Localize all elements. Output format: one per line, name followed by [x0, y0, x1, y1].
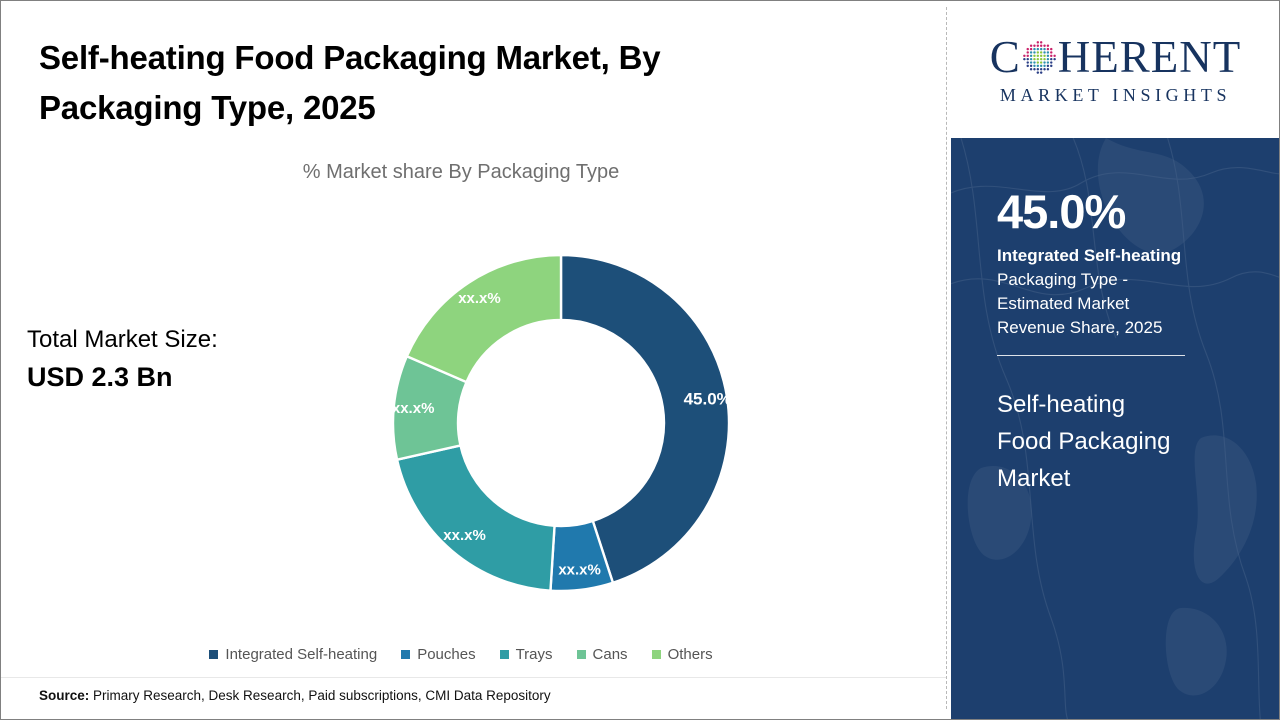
brand-wordmark: C HERENT [990, 35, 1242, 80]
panel-market-line-3: Market [997, 461, 1242, 498]
chart-legend: Integrated Self-heatingPouchesTraysCansO… [1, 646, 921, 663]
total-market-size-value: USD 2.3 Bn [27, 358, 317, 397]
brand-tagline: MARKET INSIGHTS [1000, 85, 1231, 106]
donut-chart: 45.0%xx.x%xx.x%xx.x%xx.x% [361, 223, 761, 623]
stat-sub-line-2: Estimated Market [997, 292, 1242, 316]
highlight-panel-content: 45.0% Integrated Self-heating Packaging … [997, 186, 1242, 497]
legend-item-others[interactable]: Others [652, 646, 713, 663]
infographic-root: Self-heating Food Packaging Market, By P… [0, 0, 1280, 720]
legend-item-pouches[interactable]: Pouches [401, 646, 475, 663]
donut-slice-trays[interactable] [397, 445, 554, 590]
stat-value: 45.0% [997, 186, 1242, 239]
legend-label: Trays [516, 646, 553, 663]
legend-item-cans[interactable]: Cans [577, 646, 628, 663]
panel-market-line-2: Food Packaging [997, 424, 1242, 461]
donut-slice-label-cans: xx.x% [392, 400, 435, 417]
legend-swatch-icon [209, 650, 218, 659]
donut-slice-others[interactable] [407, 255, 561, 382]
source-label: Source: [39, 688, 89, 703]
footer: Source: Primary Research, Desk Research,… [1, 677, 947, 719]
legend-swatch-icon [401, 650, 410, 659]
globe-icon [1022, 40, 1057, 75]
legend-label: Integrated Self-heating [225, 646, 377, 663]
donut-slice-label-pouches: xx.x% [558, 561, 601, 578]
donut-slice-label-trays: xx.x% [443, 527, 486, 544]
source-text: Primary Research, Desk Research, Paid su… [89, 688, 550, 703]
panel-divider [997, 355, 1185, 356]
total-market-size-label: Total Market Size: [27, 323, 317, 358]
stat-headline: Integrated Self-heating [997, 244, 1242, 268]
stat-sub-line-3: Revenue Share, 2025 [997, 316, 1242, 340]
panel-market-line-1: Self-heating [997, 387, 1242, 424]
footer-divider [1, 677, 947, 678]
left-content-pane: Self-heating Food Packaging Market, By P… [1, 1, 947, 719]
vertical-dashed-divider [946, 7, 947, 709]
brand-logo: C HERENT MARKET INSIGHTS [951, 2, 1280, 138]
legend-swatch-icon [652, 650, 661, 659]
legend-label: Cans [593, 646, 628, 663]
chart-subtitle: % Market share By Packaging Type [1, 161, 921, 184]
donut-slice-label-integrated-self-heating: 45.0% [684, 389, 732, 408]
legend-swatch-icon [500, 650, 509, 659]
legend-label: Pouches [417, 646, 475, 663]
donut-slice-label-others: xx.x% [458, 290, 501, 307]
source-line: Source: Primary Research, Desk Research,… [39, 688, 551, 703]
panel-market-name: Self-heating Food Packaging Market [997, 387, 1242, 497]
page-title: Self-heating Food Packaging Market, By P… [39, 33, 779, 133]
highlight-panel: 45.0% Integrated Self-heating Packaging … [951, 138, 1280, 719]
stat-sub-line-1: Packaging Type - [997, 268, 1242, 292]
brand-name-rest: HERENT [1058, 35, 1241, 80]
legend-item-trays[interactable]: Trays [500, 646, 553, 663]
total-market-size-block: Total Market Size: USD 2.3 Bn [27, 323, 317, 397]
legend-item-integrated-self-heating[interactable]: Integrated Self-heating [209, 646, 377, 663]
legend-label: Others [668, 646, 713, 663]
brand-letter-c: C [990, 35, 1021, 80]
donut-chart-svg: 45.0%xx.x%xx.x%xx.x%xx.x% [361, 223, 761, 623]
legend-swatch-icon [577, 650, 586, 659]
